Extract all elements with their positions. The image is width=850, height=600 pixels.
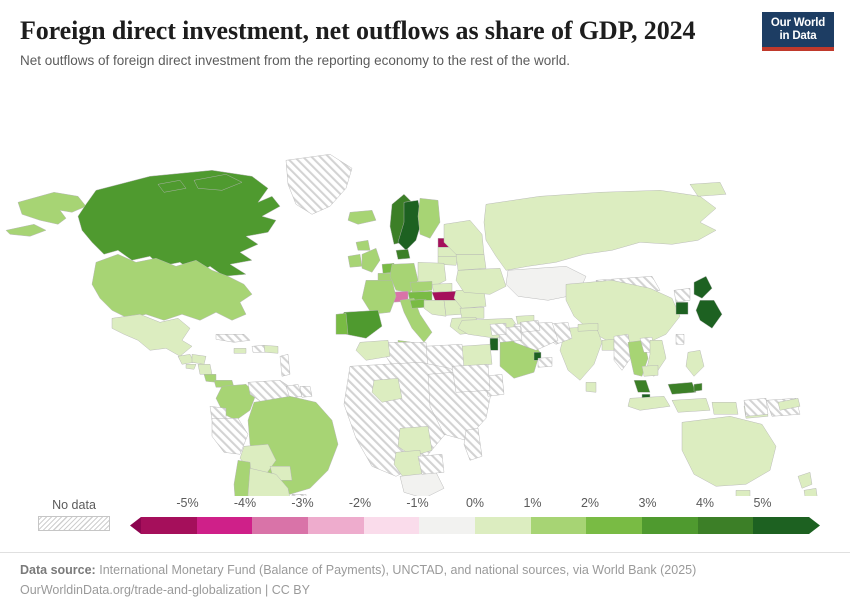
legend-bin[interactable] bbox=[642, 517, 698, 534]
legend-bins bbox=[141, 517, 809, 534]
footer-license-line[interactable]: OurWorldinData.org/trade-and-globalizati… bbox=[20, 581, 830, 600]
map-country[interactable]: Sri Lanka: 0.2% bbox=[586, 382, 596, 392]
legend-bin[interactable] bbox=[197, 517, 253, 534]
map-country[interactable]: South Korea: 3.9% bbox=[676, 302, 688, 314]
legend-tick-labels: -5%-4%-3%-2%-1%0%1%2%3%4%5% bbox=[130, 496, 820, 514]
map-country[interactable]: Botswana: No data bbox=[418, 454, 444, 474]
map-country[interactable]: Guyana: No data bbox=[286, 384, 302, 398]
map-country[interactable]: Bangladesh: 0.2% bbox=[602, 339, 614, 350]
legend-bin[interactable] bbox=[141, 517, 197, 534]
map-country[interactable]: Israel: 3.9% bbox=[490, 338, 498, 350]
map-country[interactable]: Cuba: No data bbox=[216, 334, 250, 342]
map-country[interactable]: South Africa: -0.2% bbox=[400, 472, 444, 496]
owid-chart: Foreign direct investment, net outflows … bbox=[0, 0, 850, 600]
map-country[interactable]: Ireland: 1.1% bbox=[348, 254, 362, 267]
legend-no-data[interactable]: No data bbox=[38, 498, 110, 531]
map-country[interactable]: Nicaragua: 0.4% bbox=[198, 364, 212, 374]
legend-ramp-block: -5%-4%-3%-2%-1%0%1%2%3%4%5% bbox=[130, 496, 820, 546]
map-country[interactable]: Caribbean-small bbox=[280, 354, 290, 376]
legend-tick: -3% bbox=[291, 496, 313, 510]
map-country[interactable]: Slovenia: 2.6% bbox=[410, 299, 426, 308]
chart-subtitle: Net outflows of foreign direct investmen… bbox=[20, 52, 750, 70]
map-country[interactable]: Greenland: No data bbox=[286, 154, 352, 214]
map-country[interactable]: Malaysia: 3.6% bbox=[634, 380, 696, 394]
footer-source-text: International Monetary Fund (Balance of … bbox=[99, 563, 696, 577]
legend-low-cap bbox=[130, 517, 141, 534]
legend-tick: -2% bbox=[349, 496, 371, 510]
map-country[interactable]: Peru: No data bbox=[212, 418, 248, 454]
map-country[interactable]: Madagascar: No data bbox=[464, 428, 482, 460]
legend-tick: -4% bbox=[234, 496, 256, 510]
legend-color-ramp[interactable] bbox=[130, 517, 820, 534]
legend-bin[interactable] bbox=[364, 517, 420, 534]
owid-logo[interactable]: Our World in Data bbox=[762, 12, 834, 51]
logo-line-1: Our World bbox=[764, 17, 832, 30]
logo-line-2: in Data bbox=[764, 30, 832, 43]
map-country[interactable]: North Korea: No data bbox=[674, 288, 690, 302]
map-country[interactable]: Honduras: 0.4% bbox=[192, 354, 206, 364]
map-country[interactable]: France: 1.8% bbox=[362, 280, 396, 314]
map-country[interactable]: Croatia: 0.9% bbox=[424, 300, 446, 316]
map-country[interactable]: New Zealand: 0.6% bbox=[798, 472, 818, 496]
legend-high-cap bbox=[809, 517, 820, 534]
legend-tick: 5% bbox=[753, 496, 771, 510]
map-country[interactable]: Ukraine: 0.2% bbox=[456, 268, 506, 294]
map-country[interactable]: Guatemala: 0.5% bbox=[178, 354, 194, 364]
footer-source-label: Data source: bbox=[20, 563, 96, 577]
map-country[interactable]: Cambodia: 0.3% bbox=[642, 365, 658, 376]
legend-tick: 3% bbox=[638, 496, 656, 510]
chart-header: Foreign direct investment, net outflows … bbox=[0, 0, 850, 70]
legend-bin[interactable] bbox=[586, 517, 642, 534]
map-country[interactable]: Japan: 4.6% bbox=[694, 276, 722, 328]
map-country[interactable]: Dominican Republic: 0.3% bbox=[264, 345, 278, 353]
map-country[interactable]: Mexico: 0.6% bbox=[112, 314, 192, 356]
world-choropleth-map[interactable]: Alaska: 1.4%Canada: 3.4%United States: 1… bbox=[0, 72, 850, 497]
map-country[interactable]: Iceland: 1% bbox=[348, 210, 376, 224]
map-country[interactable]: Jamaica: 0.3% bbox=[234, 348, 246, 353]
map-country[interactable]: Egypt: 0.3% bbox=[460, 344, 492, 366]
map-country[interactable]: Portugal: 2.3% bbox=[336, 313, 348, 334]
map-country[interactable]: Haiti: No data bbox=[252, 345, 265, 352]
map-country[interactable]: Alaska: 1.4% bbox=[6, 192, 86, 236]
map-country[interactable]: Caucasus-misc bbox=[520, 320, 540, 332]
legend-bin[interactable] bbox=[753, 517, 809, 534]
map-country[interactable]: PNG-west-nodata bbox=[744, 398, 768, 416]
map-country[interactable]: Czechia: 1% bbox=[410, 281, 432, 292]
legend-no-data-swatch bbox=[38, 516, 110, 531]
legend-bin[interactable] bbox=[475, 517, 531, 534]
legend-tick: 4% bbox=[696, 496, 714, 510]
map-country[interactable]: Finland: 1.5% bbox=[418, 198, 440, 238]
legend-bin[interactable] bbox=[308, 517, 364, 534]
legend-no-data-label: No data bbox=[38, 498, 110, 512]
map-country[interactable]: Denmark: 3.6% bbox=[396, 249, 410, 259]
legend-bin[interactable] bbox=[252, 517, 308, 534]
legend-tick: 2% bbox=[581, 496, 599, 510]
legend-bin[interactable] bbox=[531, 517, 587, 534]
map-svg: Alaska: 1.4%Canada: 3.4%United States: 1… bbox=[0, 72, 850, 497]
map-country[interactable]: United Arab Emirates: No data bbox=[538, 357, 552, 367]
footer-source-line: Data source: International Monetary Fund… bbox=[20, 561, 830, 580]
legend-tick: 1% bbox=[523, 496, 541, 510]
legend-tick: 0% bbox=[466, 496, 484, 510]
map-country[interactable]: Syria: No data bbox=[490, 323, 506, 335]
map-country[interactable]: Brunei: 3.5% bbox=[694, 383, 702, 391]
map-country[interactable]: Belarus: 0.3% bbox=[456, 254, 486, 270]
legend-tick: -5% bbox=[176, 496, 198, 510]
map-country[interactable]: Taiwan: No data bbox=[676, 334, 684, 344]
map-country[interactable]: El Salvador: 0.3% bbox=[186, 364, 196, 369]
map-country[interactable]: Suriname: No data bbox=[300, 386, 312, 397]
map-country[interactable]: Nepal: 0.1% bbox=[578, 323, 598, 331]
map-country[interactable]: Philippines: 0.4% bbox=[686, 350, 704, 376]
chart-footer: Data source: International Monetary Fund… bbox=[0, 552, 850, 600]
map-country[interactable]: Morocco: 0.7% bbox=[356, 340, 390, 360]
legend-bin[interactable] bbox=[698, 517, 754, 534]
map-country[interactable]: Russia: 0.4% bbox=[444, 182, 726, 270]
map-country[interactable]: Sudan-nodata bbox=[452, 364, 490, 392]
page-title: Foreign direct investment, net outflows … bbox=[20, 16, 740, 45]
legend-tick: -1% bbox=[406, 496, 428, 510]
map-country[interactable]: Australia: 0.7% bbox=[682, 416, 776, 496]
legend-bin[interactable] bbox=[419, 517, 475, 534]
map-legend: No data -5%-4%-3%-2%-1%0%1%2%3%4%5% bbox=[0, 496, 850, 552]
